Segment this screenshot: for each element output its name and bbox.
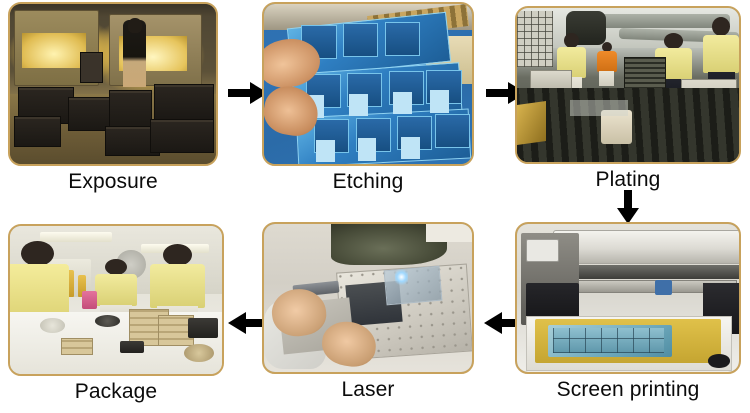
exposure-photo [10, 4, 216, 164]
process-step-laser[interactable]: Laser [262, 222, 474, 412]
etching-photo-frame [262, 2, 474, 166]
process-step-plating[interactable]: Plating [515, 6, 741, 202]
laser-spark [395, 268, 407, 286]
arrow-plating-to-screen-printing [613, 190, 643, 224]
etching-label: Etching [262, 170, 474, 194]
laser-photo-frame [262, 222, 474, 374]
exposure-label: Exposure [8, 170, 218, 194]
process-step-etching[interactable]: Etching [262, 2, 474, 198]
laser-photo [264, 224, 472, 372]
etching-photo [264, 4, 472, 164]
process-step-exposure[interactable]: Exposure [8, 2, 218, 198]
process-step-package[interactable]: Package [8, 224, 224, 412]
screen-printing-photo-frame [515, 222, 741, 374]
package-photo [10, 226, 222, 374]
plating-label: Plating [515, 168, 741, 192]
plating-photo-frame [515, 6, 741, 164]
process-step-screen-printing[interactable]: Screen printing [515, 222, 741, 412]
plating-photo [517, 8, 739, 162]
exposure-photo-frame [8, 2, 218, 166]
process-flow-diagram: Exposure [0, 0, 750, 413]
laser-label: Laser [262, 378, 474, 402]
package-photo-frame [8, 224, 224, 376]
screen-printing-photo [517, 224, 739, 372]
package-label: Package [8, 380, 224, 404]
screen-printing-label: Screen printing [515, 378, 741, 402]
